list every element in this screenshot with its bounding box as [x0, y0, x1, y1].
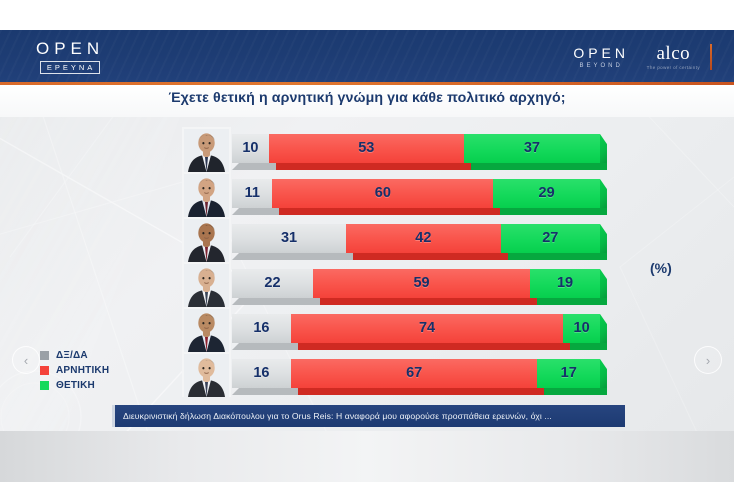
- politician-portrait: [182, 172, 231, 217]
- bar-segment-positive: 10: [563, 314, 600, 343]
- bar-segment-dk: 16: [232, 314, 291, 343]
- table-row: 116029: [0, 172, 734, 217]
- legend-swatch-positive: [40, 381, 49, 390]
- open-beyond-word: OPEN: [573, 46, 629, 61]
- stacked-bar: 314227: [232, 224, 600, 253]
- logo-divider: [710, 44, 712, 70]
- politician-portrait: [182, 352, 231, 397]
- bar-end-bevel: [600, 269, 607, 298]
- bar-segment-bevel: [353, 253, 508, 260]
- bar-segment-bevel: [239, 163, 276, 170]
- bar-segment-dk: 11: [232, 179, 272, 208]
- page-title: Έχετε θετική η αρνητική γνώμη για κάθε π…: [0, 90, 734, 106]
- legend-swatch-dk: [40, 351, 49, 360]
- stacked-bar: 105337: [232, 134, 600, 163]
- bar-segment-value: 67: [406, 365, 422, 381]
- bar-rows-container: 105337116029314227225919167410166717: [0, 117, 734, 439]
- bar-segment-bevel: [320, 298, 537, 305]
- bar-end-bevel: [600, 314, 607, 343]
- bar-segment-value: 22: [264, 275, 280, 291]
- bar-segment-value: 31: [281, 230, 297, 246]
- bar-segment-negative: 67: [291, 359, 538, 388]
- table-row: 314227: [0, 217, 734, 262]
- chart-panel: ‹ › (%) ΔΞ/ΔΑ ΑΡΝΗΤΙΚΗ ΘΕΤΙΚΗ 1053371160…: [0, 117, 734, 439]
- footer-strip: [0, 431, 734, 482]
- broadcast-poll-graphic: OPEN EPEYNA OPEN BEYOND alco The power o…: [0, 0, 734, 482]
- bar-segment-value: 17: [561, 365, 577, 381]
- table-row: 225919: [0, 262, 734, 307]
- bar-segment-value: 16: [253, 320, 269, 336]
- bar-segment-bevel: [570, 343, 607, 350]
- bar-segment-value: 37: [524, 140, 540, 156]
- legend-item-negative: ΑΡΝΗΤΙΚΗ: [40, 363, 109, 378]
- open-beyond-logo: OPEN BEYOND: [573, 46, 629, 70]
- bar-segment-value: 16: [253, 365, 269, 381]
- bar-segment-value: 11: [245, 185, 260, 201]
- bar-segment-negative: 60: [272, 179, 493, 208]
- legend-label-dk: ΔΞ/ΔΑ: [56, 350, 88, 361]
- stacked-bar: 167410: [232, 314, 600, 343]
- chevron-right-icon: ›: [706, 353, 710, 368]
- bar-start-bevel: [232, 208, 239, 215]
- bar-segment-value: 42: [415, 230, 431, 246]
- open-logo-sub: EPEYNA: [40, 61, 100, 74]
- bar-segment-positive: 37: [464, 134, 600, 163]
- open-beyond-sub: BEYOND: [573, 63, 629, 70]
- bar-segment-bevel: [500, 208, 607, 215]
- bar-segment-dk: 22: [232, 269, 313, 298]
- bar-segment-negative: 42: [346, 224, 501, 253]
- open-logo-word: OPEN: [36, 40, 104, 57]
- bar-segment-positive: 17: [537, 359, 600, 388]
- bar-start-bevel: [232, 163, 239, 170]
- politician-portrait: [182, 127, 231, 172]
- legend-item-dk: ΔΞ/ΔΑ: [40, 348, 109, 363]
- bar-end-bevel: [600, 359, 607, 388]
- bar-segment-negative: 74: [291, 314, 563, 343]
- bar-start-bevel: [232, 253, 239, 260]
- chevron-left-icon: ‹: [24, 353, 28, 368]
- prev-slide-button[interactable]: ‹: [12, 346, 40, 374]
- bar-segment-bevel: [298, 388, 545, 395]
- politician-portrait: [182, 307, 231, 352]
- bar-end-bevel: [600, 134, 607, 163]
- alco-logo-word: alco: [647, 44, 700, 64]
- bar-segment-bevel: [298, 343, 570, 350]
- bar-start-bevel: [232, 343, 239, 350]
- legend-swatch-negative: [40, 366, 49, 375]
- alco-logo: alco The power of certainty: [647, 44, 700, 71]
- percent-unit-label: (%): [650, 260, 672, 276]
- bar-segment-bevel: [544, 388, 607, 395]
- bar-segment-value: 10: [242, 140, 258, 156]
- politician-portrait: [182, 262, 231, 307]
- politician-portrait: [182, 217, 231, 262]
- chart-legend: ΔΞ/ΔΑ ΑΡΝΗΤΙΚΗ ΘΕΤΙΚΗ: [40, 348, 109, 393]
- bar-segment-bevel: [239, 343, 298, 350]
- bar-segment-value: 60: [375, 185, 391, 201]
- bar-segment-dk: 16: [232, 359, 291, 388]
- bar-segment-value: 29: [539, 185, 555, 201]
- bar-segment-bevel: [239, 208, 279, 215]
- alco-logo-sub: The power of certainty: [647, 65, 700, 71]
- bar-segment-bevel: [239, 253, 353, 260]
- bar-start-bevel: [232, 298, 239, 305]
- bar-segment-bevel: [276, 163, 471, 170]
- bar-segment-dk: 10: [232, 134, 269, 163]
- ticker-text: Διευκρινιστική δήλωση Διακόπουλου για το…: [115, 411, 552, 421]
- bar-segment-positive: 19: [530, 269, 600, 298]
- legend-item-positive: ΘΕΤΙΚΗ: [40, 378, 109, 393]
- bar-segment-negative: 59: [313, 269, 530, 298]
- bar-segment-value: 10: [574, 320, 590, 336]
- bar-segment-dk: 31: [232, 224, 346, 253]
- top-white-strip: [0, 0, 734, 30]
- bar-segment-bevel: [471, 163, 607, 170]
- stacked-bar: 225919: [232, 269, 600, 298]
- bar-end-bevel: [600, 224, 607, 253]
- bar-segment-positive: 27: [501, 224, 600, 253]
- bar-segment-bevel: [279, 208, 500, 215]
- stacked-bar: 116029: [232, 179, 600, 208]
- news-ticker[interactable]: Διευκρινιστική δήλωση Διακόπουλου για το…: [112, 405, 625, 427]
- bar-segment-bevel: [537, 298, 607, 305]
- open-erevna-logo: OPEN EPEYNA: [36, 40, 104, 75]
- ticker-wrap: Διευκρινιστική δήλωση Διακόπουλου για το…: [0, 405, 734, 431]
- bar-segment-value: 27: [542, 230, 558, 246]
- legend-label-positive: ΘΕΤΙΚΗ: [56, 380, 95, 391]
- legend-label-negative: ΑΡΝΗΤΙΚΗ: [56, 365, 109, 376]
- table-row: 167410: [0, 307, 734, 352]
- bar-segment-positive: 29: [493, 179, 600, 208]
- table-row: 105337: [0, 127, 734, 172]
- next-slide-button[interactable]: ›: [694, 346, 722, 374]
- bar-segment-value: 74: [419, 320, 435, 336]
- bar-end-bevel: [600, 179, 607, 208]
- bar-segment-bevel: [239, 388, 298, 395]
- table-row: 166717: [0, 352, 734, 397]
- bar-segment-bevel: [239, 298, 320, 305]
- bar-segment-negative: 53: [269, 134, 464, 163]
- bar-segment-value: 59: [413, 275, 429, 291]
- bar-segment-value: 53: [358, 140, 374, 156]
- bar-segment-value: 19: [557, 275, 573, 291]
- bar-start-bevel: [232, 388, 239, 395]
- stacked-bar: 166717: [232, 359, 600, 388]
- bar-segment-bevel: [508, 253, 607, 260]
